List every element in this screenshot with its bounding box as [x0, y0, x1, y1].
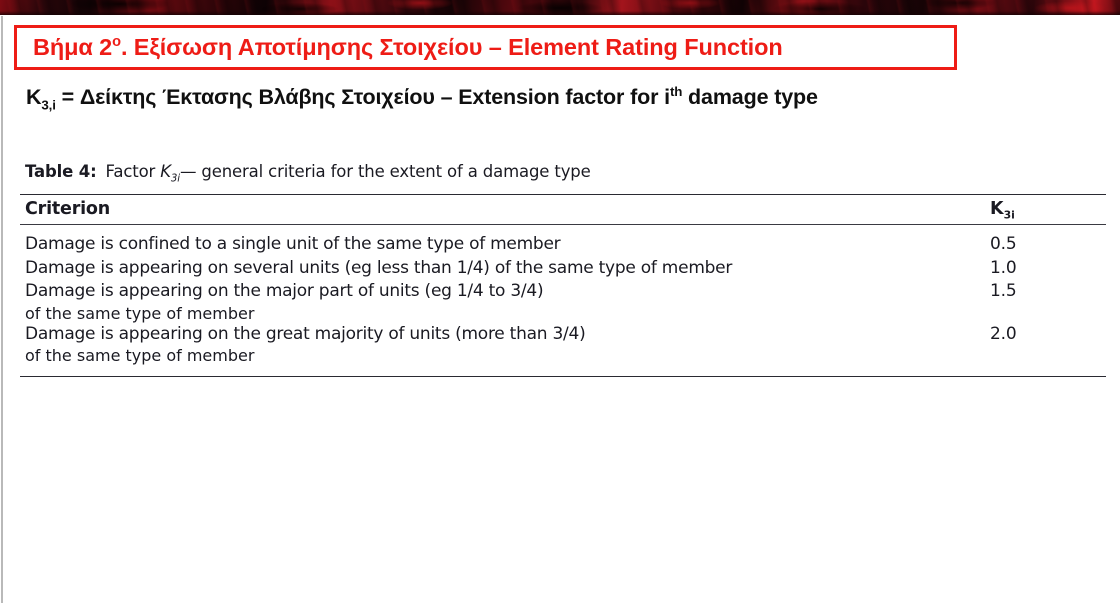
slide-left-hairline: [1, 16, 3, 603]
table-caption-rest: — general criteria for the extent of a d…: [180, 162, 591, 181]
cell-criterion: Damage is appearing on the great majorit…: [25, 323, 988, 347]
slide-title-box: Βήμα 2ο. Εξίσωση Αποτίμησης Στοιχείου – …: [14, 25, 957, 70]
decorative-top-banner: [0, 0, 1120, 15]
table-caption-symbol-subscript: 3i: [171, 173, 180, 184]
slide-title-step: Βήμα 2: [33, 34, 112, 60]
subtitle-symbol-subscript: 3,i: [41, 97, 55, 112]
table-body: Damage is confined to a single unit of t…: [20, 225, 1106, 376]
subtitle-greek-part: = Δείκτης Έκτασης Βλάβης Στοιχείου – Ext…: [56, 85, 670, 109]
slide-title: Βήμα 2ο. Εξίσωση Αποτίμησης Στοιχείου – …: [33, 34, 783, 61]
column-header-k3i: K3i: [988, 199, 1106, 219]
cell-k3i: 1.0: [988, 257, 1106, 281]
column-header-criterion: Criterion: [25, 199, 988, 219]
slide-subtitle: K3,i = Δείκτης Έκτασης Βλάβης Στοιχείου …: [26, 85, 1106, 110]
table-caption-label: Table 4:: [25, 162, 97, 181]
table-row: Damage is appearing on the great majorit…: [25, 323, 1106, 347]
table-header-row: Criterion K3i: [20, 195, 1106, 224]
table-caption: Table 4:Factor K3i— general criteria for…: [20, 162, 1106, 181]
cell-k3i: 2.0: [988, 323, 1106, 347]
subtitle-tail: damage type: [682, 85, 818, 109]
cell-criterion-continuation: of the same type of member: [25, 304, 1106, 323]
cell-k3i: 0.5: [988, 233, 1106, 257]
table-caption-factor: Factor: [106, 162, 161, 181]
banner-bottom-shade: [0, 11, 1120, 15]
slide-title-ordinal: ο: [112, 34, 121, 50]
table-bottom-rule: [20, 376, 1106, 377]
subtitle-ordinal-superscript: th: [670, 84, 682, 99]
subtitle-symbol: K: [26, 85, 41, 109]
cell-k3i: 1.5: [988, 280, 1106, 304]
table-row: Damage is appearing on the major part of…: [25, 280, 1106, 304]
slide-title-rest: . Εξίσωση Αποτίμησης Στοιχείου – Element…: [121, 34, 783, 60]
cell-criterion: Damage is appearing on several units (eg…: [25, 257, 988, 281]
cell-criterion-continuation: of the same type of member: [25, 346, 1106, 365]
cell-criterion: Damage is appearing on the major part of…: [25, 280, 988, 304]
column-header-k3i-subscript: 3i: [1004, 209, 1015, 222]
table-row: Damage is appearing on several units (eg…: [25, 257, 1106, 281]
cell-criterion: Damage is confined to a single unit of t…: [25, 233, 988, 257]
table-caption-symbol: K: [160, 162, 171, 181]
column-header-k3i-symbol: K: [990, 199, 1004, 219]
table-row: Damage is confined to a single unit of t…: [25, 233, 1106, 257]
table-figure: Table 4:Factor K3i— general criteria for…: [20, 162, 1106, 377]
